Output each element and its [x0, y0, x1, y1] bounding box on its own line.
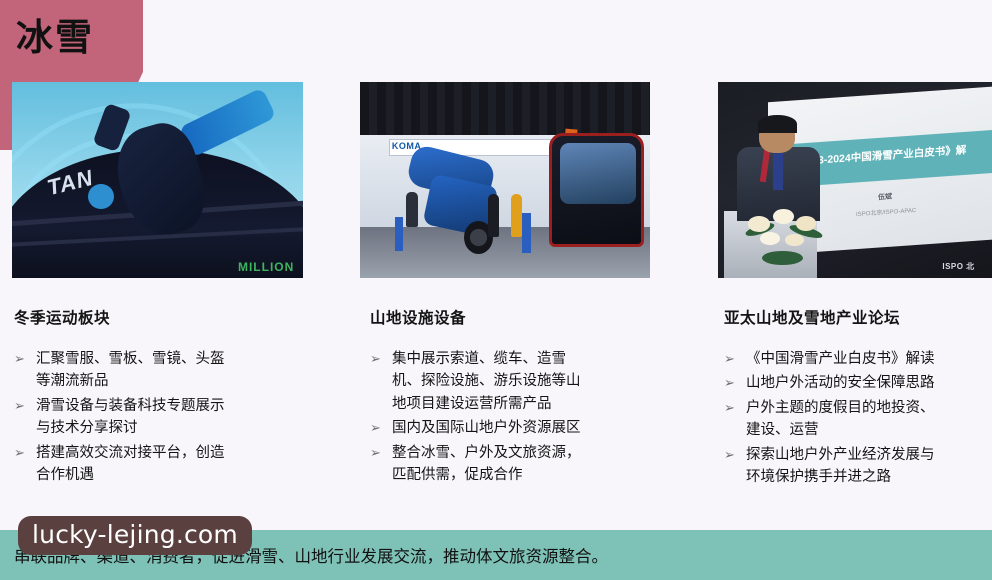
list-item: ➢ 整合冰雪、户外及文旅资源， 匹配供需，促成合作 — [370, 442, 670, 487]
arrow-bullet-icon: ➢ — [14, 348, 36, 369]
foliage — [762, 251, 803, 265]
industry-forum-speaker-photo: 《2023-2024中国滑雪产业白皮书》解 伍斌 ISPO北京/ISPO-APA… — [718, 82, 992, 278]
list-item-text: 集中展示索道、缆车、造雪 机、探险设施、游乐设施等山 地项目建设运营所需产品 — [392, 348, 670, 415]
list-item-text: 搭建高效交流对接平台，创造 合作机遇 — [36, 442, 324, 487]
column-title: 山地设施设备 — [370, 306, 670, 328]
flower — [785, 234, 804, 246]
column-title: 亚太山地及雪地产业论坛 — [724, 306, 992, 328]
list-item: ➢ 《中国滑雪产业白皮书》解读 — [724, 348, 992, 370]
flower — [760, 232, 779, 245]
list-item-text: 探索山地户外产业经济发展与 环境保护携手并进之路 — [746, 444, 992, 489]
hall-ceiling-truss — [360, 82, 650, 135]
list-item: ➢ 汇聚雪服、雪板、雪镜、头盔 等潮流新品 — [14, 348, 324, 393]
list-item-text: 滑雪设备与装备科技专题展示 与技术分享探讨 — [36, 395, 324, 440]
content-column-winter-sports: 冬季运动板块 ➢ 汇聚雪服、雪板、雪镜、头盔 等潮流新品 ➢ 滑雪设备与装备科技… — [14, 306, 324, 489]
column-title: 冬季运动板块 — [14, 306, 324, 328]
flower — [796, 216, 816, 230]
arrow-bullet-icon: ➢ — [724, 397, 746, 418]
list-item-text: 汇聚雪服、雪板、雪镜、头盔 等潮流新品 — [36, 348, 324, 393]
site-watermark: lucky-lejing.com — [18, 516, 252, 555]
list-item-text: 户外主题的度假目的地投资、 建设、运营 — [746, 397, 992, 442]
list-item-text: 整合冰雪、户外及文旅资源， 匹配供需，促成合作 — [392, 442, 670, 487]
speaker-glasses — [762, 131, 792, 137]
content-column-forum: 亚太山地及雪地产业论坛 ➢ 《中国滑雪产业白皮书》解读 ➢ 山地户外活动的安全保… — [724, 306, 992, 491]
arrow-bullet-icon: ➢ — [724, 372, 746, 393]
photo-watermark-text: ISPO 北 — [942, 261, 974, 272]
bullet-list: ➢ 集中展示索道、缆车、造雪 机、探险设施、游乐设施等山 地项目建设运营所需产品… — [370, 348, 670, 487]
list-item: ➢ 户外主题的度假目的地投资、 建设、运营 — [724, 397, 992, 442]
snowboard-simulator-photo: TAN MILLION — [12, 82, 303, 278]
list-item-text: 《中国滑雪产业白皮书》解读 — [746, 348, 992, 370]
slide-badge-title: 冰雪 — [16, 18, 94, 59]
arrow-bullet-icon: ➢ — [724, 444, 746, 465]
flower — [748, 216, 770, 231]
booth-post — [395, 217, 404, 250]
arrow-bullet-icon: ➢ — [370, 417, 392, 438]
content-column-mountain-facilities: 山地设施设备 ➢ 集中展示索道、缆车、造雪 机、探险设施、游乐设施等山 地项目建… — [370, 306, 670, 489]
booth-post — [522, 213, 531, 252]
arrow-bullet-icon: ➢ — [14, 395, 36, 416]
gondola-window — [560, 143, 635, 204]
speaker-tie — [773, 153, 783, 190]
list-item-text: 国内及国际山地户外资源展区 — [392, 417, 670, 439]
rider-helmet — [88, 184, 114, 209]
arrow-bullet-icon: ➢ — [370, 348, 392, 369]
arrow-bullet-icon: ➢ — [370, 442, 392, 463]
flower — [773, 209, 794, 224]
list-item: ➢ 滑雪设备与装备科技专题展示 与技术分享探讨 — [14, 395, 324, 440]
list-item: ➢ 国内及国际山地户外资源展区 — [370, 417, 670, 439]
visitor-figure — [488, 194, 500, 237]
bullet-list: ➢ 汇聚雪服、雪板、雪镜、头盔 等潮流新品 ➢ 滑雪设备与装备科技专题展示 与技… — [14, 348, 324, 487]
list-item-text: 山地户外活动的安全保障思路 — [746, 372, 992, 394]
list-item: ➢ 搭建高效交流对接平台，创造 合作机遇 — [14, 442, 324, 487]
arrow-bullet-icon: ➢ — [14, 442, 36, 463]
screen-speaker-name: 伍斌 — [878, 191, 892, 202]
list-item: ➢ 山地户外活动的安全保障思路 — [724, 372, 992, 394]
booth-brand-text: MILLION — [238, 260, 294, 274]
flower-arrangement — [743, 204, 831, 263]
mountain-equipment-expo-photo: KOMA — [360, 82, 650, 278]
list-item: ➢ 探索山地户外产业经济发展与 环境保护携手并进之路 — [724, 444, 992, 489]
visitor-figure — [511, 194, 523, 237]
bullet-list: ➢ 《中国滑雪产业白皮书》解读 ➢ 山地户外活动的安全保障思路 ➢ 户外主题的度… — [724, 348, 992, 489]
visitor-figure — [406, 192, 418, 227]
arrow-bullet-icon: ➢ — [724, 348, 746, 369]
list-item: ➢ 集中展示索道、缆车、造雪 机、探险设施、游乐设施等山 地项目建设运营所需产品 — [370, 348, 670, 415]
